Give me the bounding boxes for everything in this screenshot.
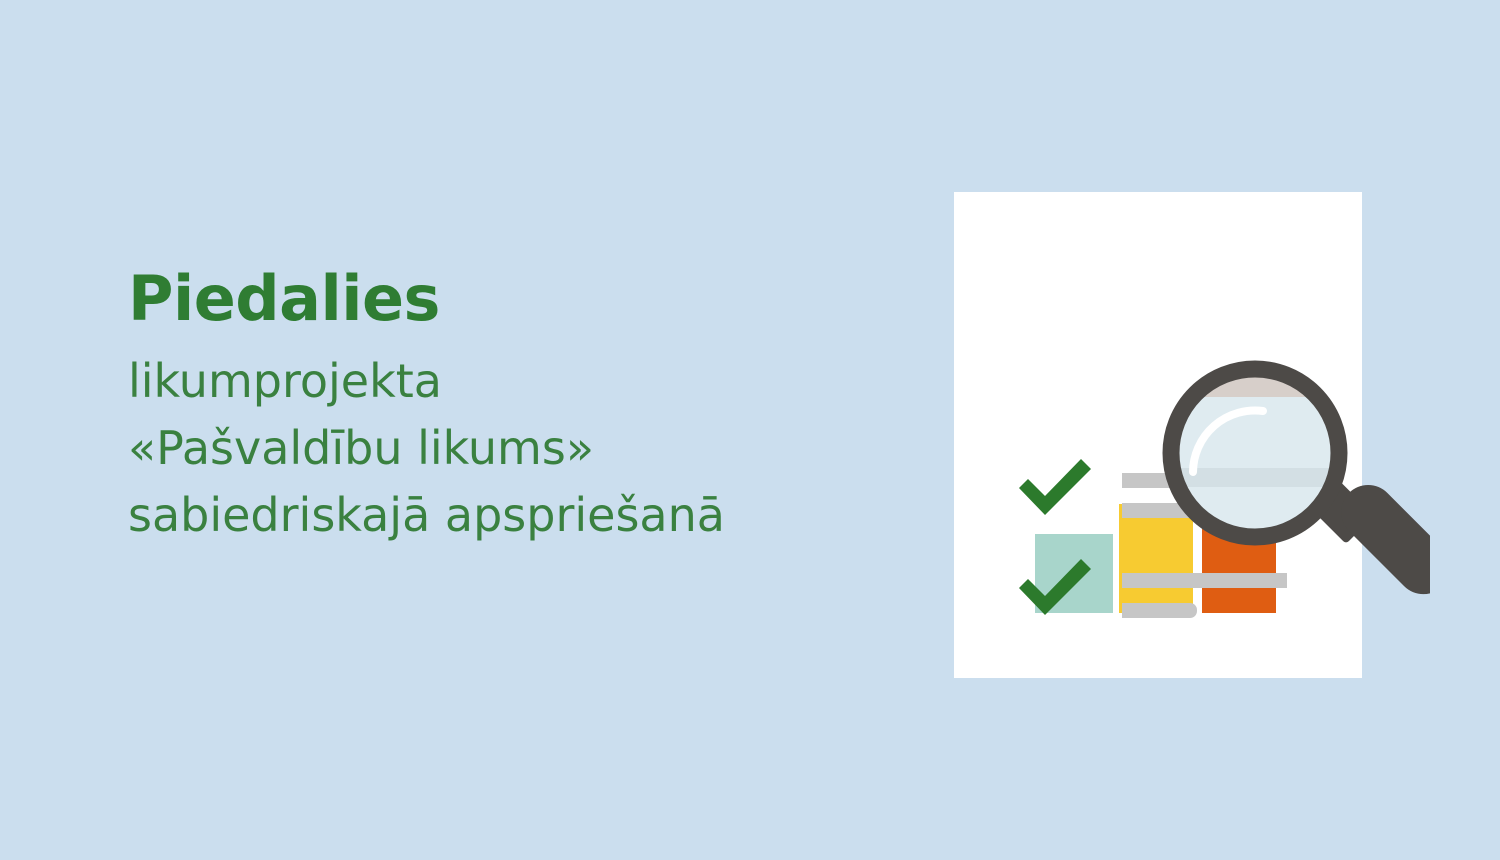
page-title: Piedalies — [128, 268, 888, 330]
subtitle-line-2: «Pašvaldību likums» — [128, 415, 888, 482]
promo-banner: Piedalies likumprojekta «Pašvaldību liku… — [0, 0, 1500, 860]
subtitle-line-1: likumprojekta — [128, 348, 888, 415]
magnifier-icon — [1162, 360, 1430, 646]
checkmark-icon — [1017, 457, 1093, 515]
subtitle-line-3: sabiedriskajā apspriešanā — [128, 482, 888, 549]
text-block: Piedalies likumprojekta «Pašvaldību liku… — [128, 268, 888, 549]
checkmark-icon — [1017, 557, 1093, 615]
illustration — [954, 192, 1362, 678]
